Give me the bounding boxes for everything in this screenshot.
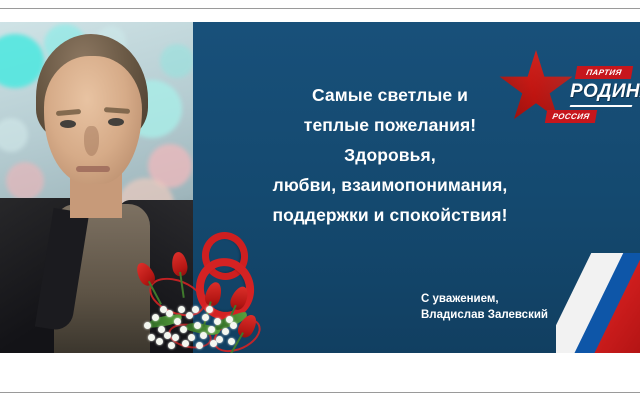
white-blossom <box>214 318 221 325</box>
eye-right <box>108 118 124 126</box>
greeting-card: ПАРТИЯ РОДИНА РОССИЯ Самые светлые и теп… <box>0 22 640 353</box>
white-blossom <box>186 312 193 319</box>
white-blossom <box>192 306 199 313</box>
logo-name: РОДИНА <box>570 80 640 104</box>
eye-left <box>60 120 76 128</box>
top-divider <box>0 8 640 9</box>
white-blossom <box>152 314 159 321</box>
white-blossom <box>168 342 175 349</box>
page-root: ПАРТИЯ РОДИНА РОССИЯ Самые светлые и теп… <box>0 0 640 400</box>
white-blossom <box>144 322 151 329</box>
bottom-divider <box>0 392 640 393</box>
floral-eight-decoration <box>128 228 276 353</box>
white-blossom <box>148 334 155 341</box>
white-flower-cluster <box>142 304 234 352</box>
signature-line-1: С уважением, <box>421 291 548 307</box>
message-line-2: теплые пожелания! <box>205 110 575 140</box>
white-blossom <box>160 306 167 313</box>
face <box>44 56 142 184</box>
message-line-1: Самые светлые и <box>205 80 575 110</box>
white-blossom <box>164 332 171 339</box>
tulip-flower <box>170 251 188 277</box>
white-blossom <box>182 340 189 347</box>
white-blossom <box>210 340 217 347</box>
white-blossom <box>180 326 187 333</box>
white-blossom <box>188 334 195 341</box>
white-blossom <box>200 332 207 339</box>
white-blossom <box>156 338 163 345</box>
white-blossom <box>202 314 209 321</box>
white-blossom <box>166 310 173 317</box>
signature-line-2: Владислав Залевский <box>421 307 548 323</box>
white-blossom <box>228 338 235 345</box>
white-blossom <box>196 342 203 349</box>
white-blossom <box>172 334 179 341</box>
white-blossom <box>206 306 213 313</box>
white-blossom <box>194 322 201 329</box>
white-blossom <box>178 306 185 313</box>
message-line-5: поддержки и спокойствия! <box>205 200 575 230</box>
white-blossom <box>230 322 237 329</box>
tricolor-corner <box>556 253 640 353</box>
white-blossom <box>174 318 181 325</box>
message-line-3: Здоровья, <box>205 140 575 170</box>
message-line-4: любви, взаимопонимания, <box>205 170 575 200</box>
logo-underline <box>570 105 633 107</box>
logo-tag-partiya: ПАРТИЯ <box>575 66 633 79</box>
white-blossom <box>158 326 165 333</box>
greeting-message: Самые светлые и теплые пожелания! Здоров… <box>205 80 575 230</box>
white-blossom <box>222 328 229 335</box>
signature-block: С уважением, Владислав Залевский <box>421 291 548 323</box>
white-blossom <box>208 326 215 333</box>
white-blossom <box>216 336 223 343</box>
nose <box>84 126 99 156</box>
mouth <box>76 166 110 172</box>
